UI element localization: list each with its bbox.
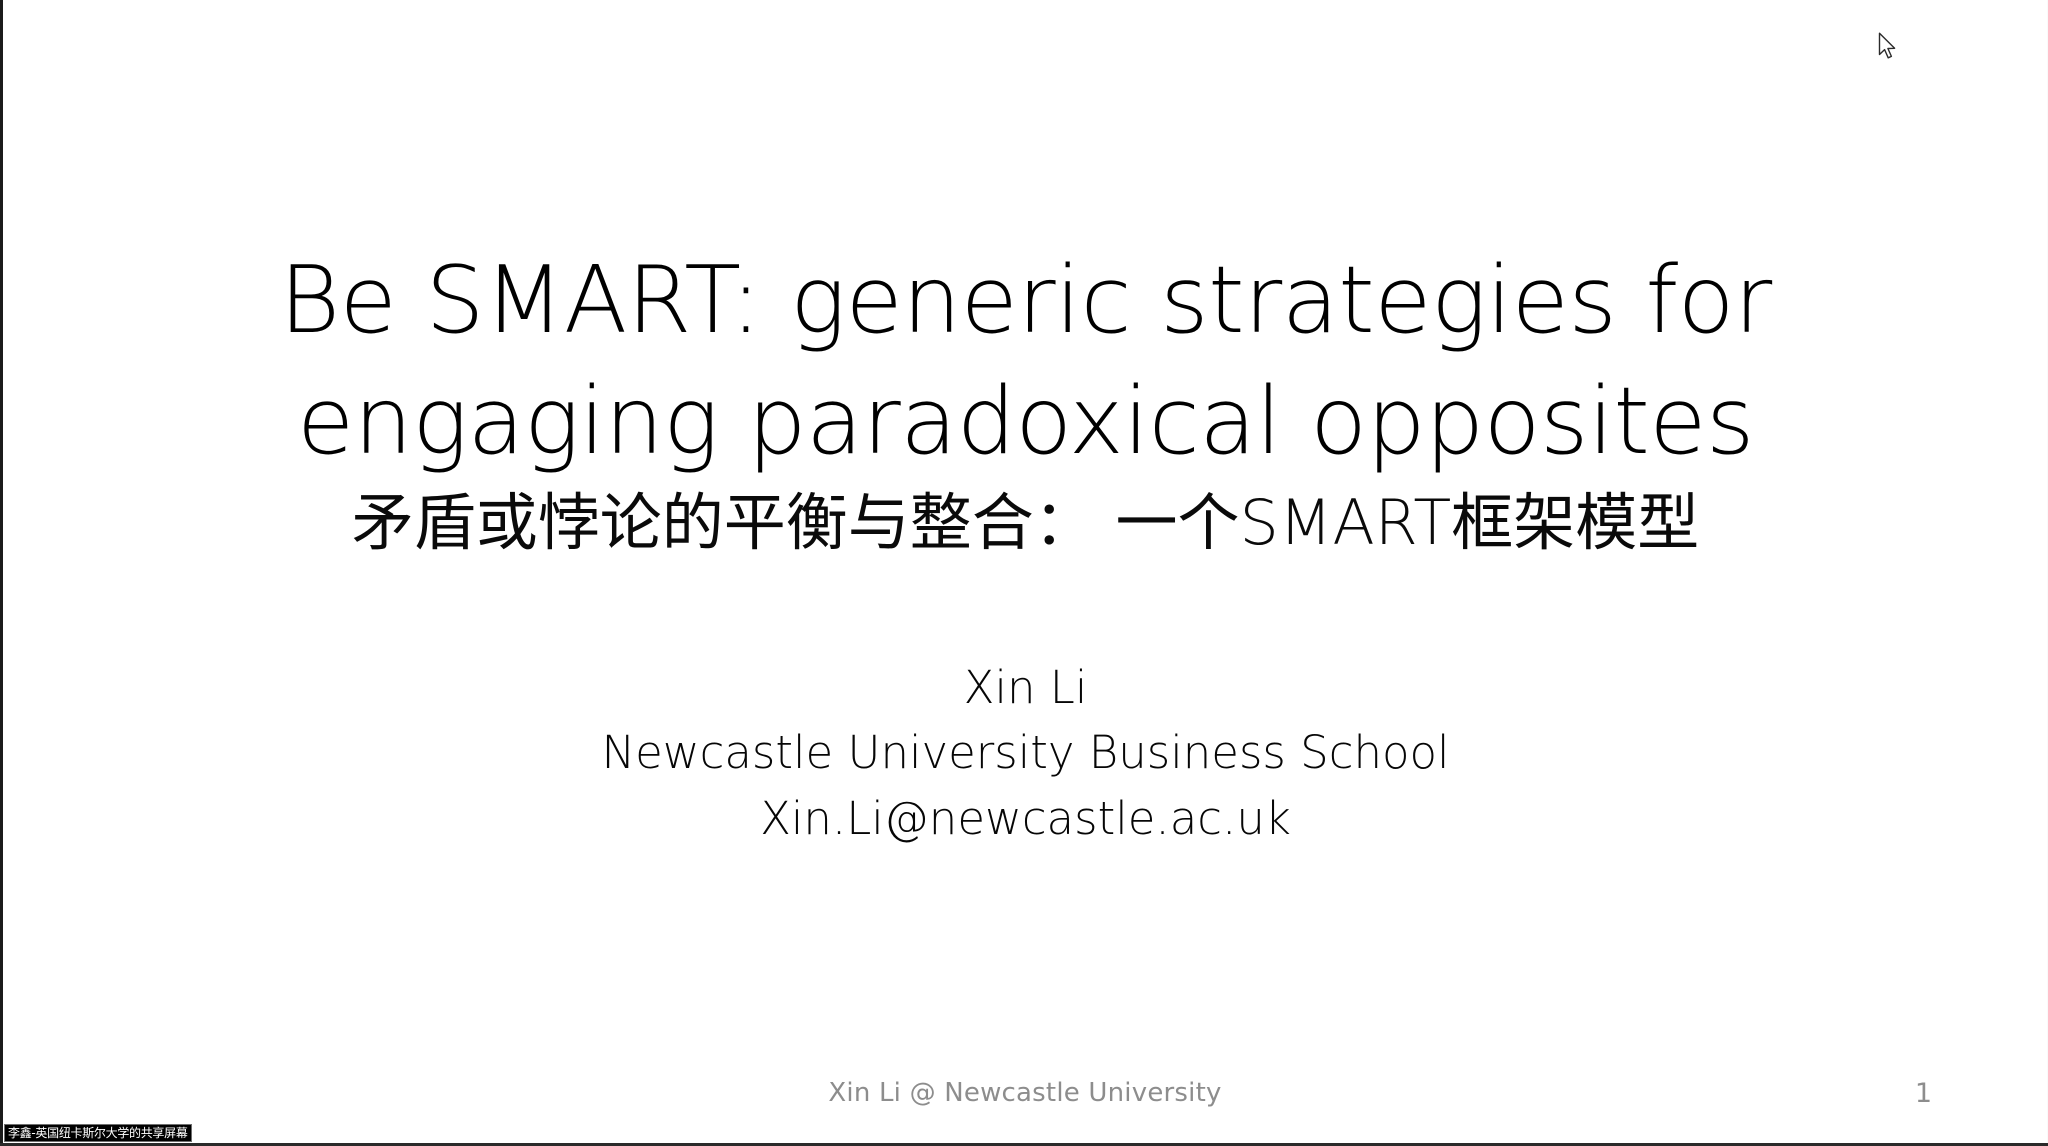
slide-footer-text: Xin Li @ Newcastle University	[3, 1078, 2047, 1108]
shared-screen-presentation: Be SMART: generic strategies for engagin…	[0, 0, 2048, 1146]
author-email: Xin.Li@newcastle.ac.uk	[153, 786, 1898, 851]
screen-share-indicator-label: 李鑫-英国纽卡斯尔大学的共享屏幕	[8, 1127, 188, 1139]
slide-title-line-2: engaging paradoxical opposites	[153, 361, 1898, 482]
author-affiliation: Newcastle University Business School	[153, 720, 1898, 785]
screen-share-indicator-badge: 李鑫-英国纽卡斯尔大学的共享屏幕	[4, 1124, 192, 1142]
slide-title-line-1: Be SMART: generic strategies for	[153, 240, 1898, 361]
slide-page-number: 1	[1915, 1078, 1932, 1109]
slide-canvas: Be SMART: generic strategies for engagin…	[3, 0, 2047, 1143]
slide-title-block: Be SMART: generic strategies for engagin…	[153, 240, 1898, 561]
author-name: Xin Li	[153, 655, 1898, 720]
slide-subtitle-chinese: 矛盾或悖论的平衡与整合： 一个SMART框架模型	[153, 484, 1898, 562]
slide-author-block: Xin Li Newcastle University Business Sch…	[153, 655, 1898, 851]
